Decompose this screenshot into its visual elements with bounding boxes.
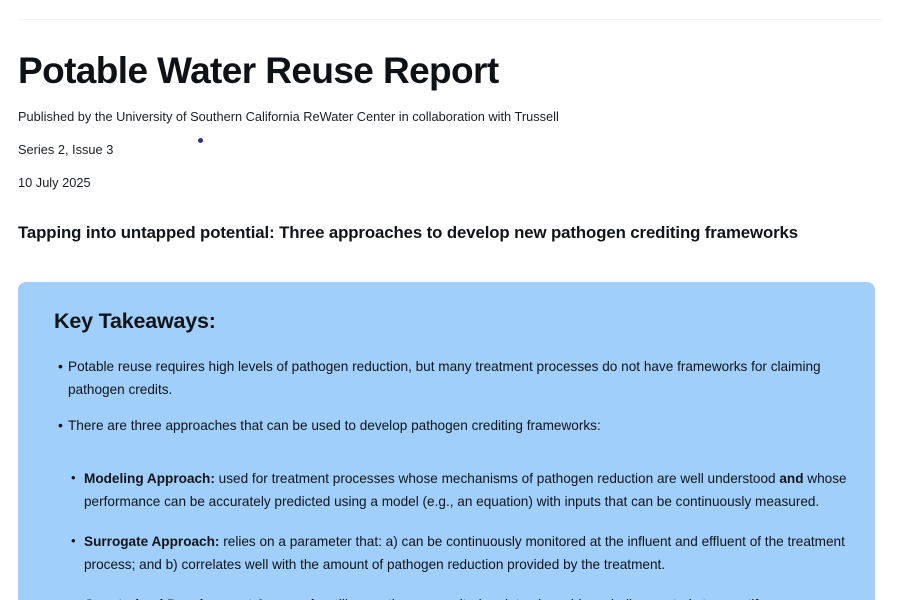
approach-modeling-label: Modeling Approach: xyxy=(84,471,215,486)
takeaway-sublist-container: Modeling Approach: used for treatment pr… xyxy=(36,452,853,600)
takeaway-bullet-1-text: Potable reuse requires high levels of pa… xyxy=(68,359,821,397)
publisher-line: Published by the University of Southern … xyxy=(18,108,882,127)
page-title: Potable Water Reuse Report xyxy=(18,0,882,91)
approach-modeling-text-part1: used for treatment processes whose mecha… xyxy=(215,471,779,486)
approach-constrained-development-text: utilizes pathogen monitoring data alongs… xyxy=(324,597,765,600)
document-content: Potable Water Reuse Report Published by … xyxy=(0,0,900,246)
takeaway-bullet-2-text: There are three approaches that can be u… xyxy=(68,418,601,433)
stray-dot-artifact xyxy=(198,138,203,143)
key-takeaways-callout: Key Takeaways: Potable reuse requires hi… xyxy=(18,282,875,600)
series-issue-line: Series 2, Issue 3 xyxy=(18,141,882,160)
key-takeaways-list: Potable reuse requires high levels of pa… xyxy=(36,335,853,600)
article-heading: Tapping into untapped potential: Three a… xyxy=(18,192,848,246)
takeaway-bullet-2: There are three approaches that can be u… xyxy=(36,415,853,438)
publication-date: 10 July 2025 xyxy=(18,174,882,193)
approach-modeling-emphasis: and xyxy=(779,471,803,486)
approach-constrained-development-label: Constrained Development Approach: xyxy=(84,597,324,600)
report-page: Potable Water Reuse Report Published by … xyxy=(0,0,900,600)
approaches-list: Modeling Approach: used for treatment pr… xyxy=(68,452,853,600)
approach-item-modeling: Modeling Approach: used for treatment pr… xyxy=(68,468,853,514)
approach-item-surrogate: Surrogate Approach: relies on a paramete… xyxy=(68,531,853,577)
takeaway-bullet-1: Potable reuse requires high levels of pa… xyxy=(36,356,853,402)
approach-surrogate-label: Surrogate Approach: xyxy=(84,534,219,549)
approach-item-constrained-development: Constrained Development Approach: utiliz… xyxy=(68,594,853,600)
key-takeaways-title: Key Takeaways: xyxy=(36,302,853,335)
